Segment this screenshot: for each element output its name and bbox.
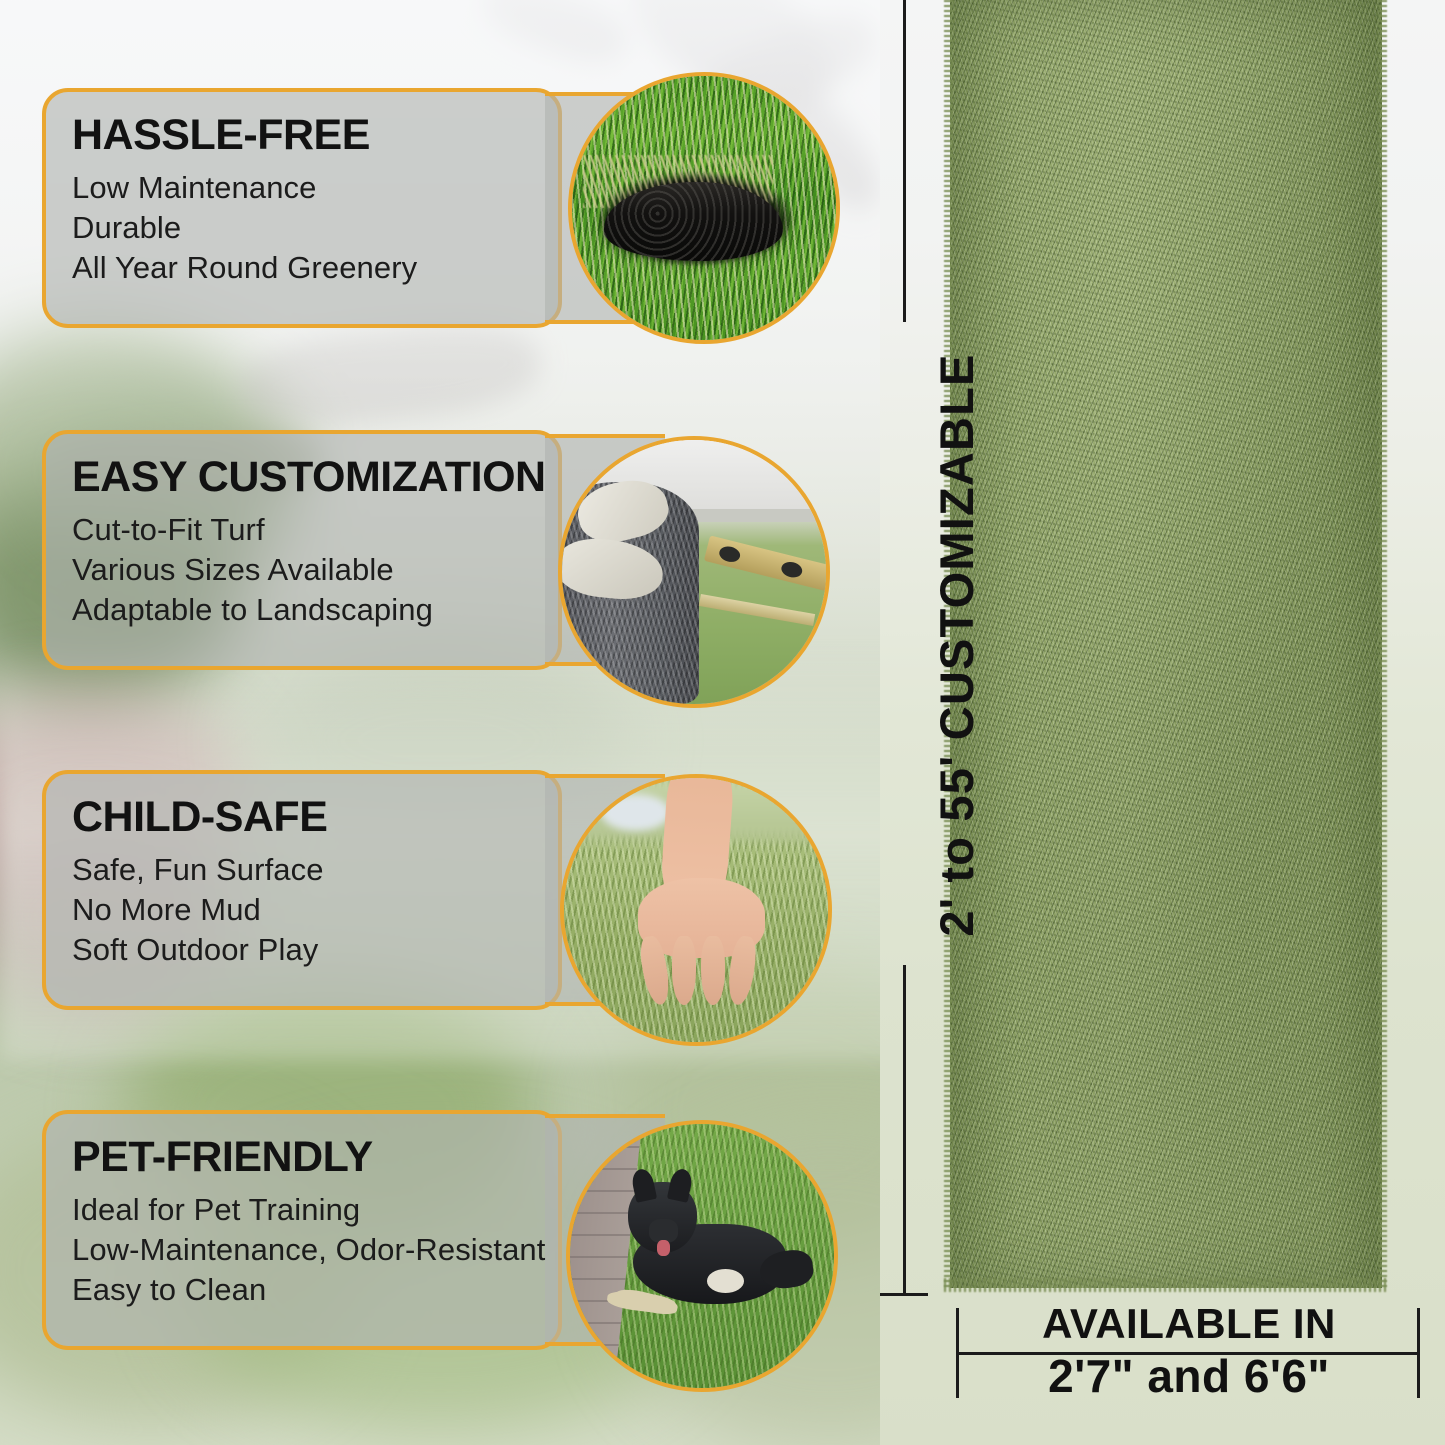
feature-bullet: Durable bbox=[72, 208, 532, 248]
length-dimension-end-cap bbox=[880, 1293, 928, 1296]
ruler-tool bbox=[699, 594, 815, 626]
dog-tongue bbox=[657, 1240, 670, 1256]
feature-title: EASY CUSTOMIZATION bbox=[72, 454, 532, 500]
length-dimension-line-upper bbox=[903, 0, 906, 322]
dog-chest-marking bbox=[707, 1269, 744, 1293]
spirit-level-tool bbox=[703, 535, 830, 593]
infographic-canvas: 2' to 55' CUSTOMIZABLE AVAILABLE IN 2'7"… bbox=[0, 0, 1445, 1445]
feature-bullet: Low Maintenance bbox=[72, 168, 532, 208]
feature-photo-circle bbox=[558, 436, 830, 708]
turf-bottom-edge bbox=[944, 1278, 1388, 1292]
paver-path bbox=[566, 1124, 642, 1388]
level-vial bbox=[718, 544, 742, 563]
feature-title: CHILD-SAFE bbox=[72, 794, 532, 840]
feature-callout-box: EASY CUSTOMIZATION Cut-to-Fit Turf Vario… bbox=[42, 430, 562, 670]
feature-bullet: Various Sizes Available bbox=[72, 550, 532, 590]
feature-bullet: Adaptable to Landscaping bbox=[72, 590, 532, 630]
feature-photo-circle bbox=[568, 72, 840, 344]
turf-cross-section-roll-photo bbox=[572, 76, 836, 340]
level-vial bbox=[779, 559, 803, 578]
feature-bullet: No More Mud bbox=[72, 890, 532, 930]
feature-bullet: Low-Maintenance, Odor-Resistant bbox=[72, 1230, 532, 1270]
connector-line-top bbox=[545, 1114, 665, 1118]
feature-bullet: Easy to Clean bbox=[72, 1270, 532, 1310]
child-hand-on-turf-photo bbox=[564, 778, 828, 1042]
blurred-shoe bbox=[601, 794, 670, 831]
feature-bullet: Ideal for Pet Training bbox=[72, 1190, 532, 1230]
feature-bullet: Soft Outdoor Play bbox=[72, 930, 532, 970]
feature-title: HASSLE-FREE bbox=[72, 112, 532, 158]
feature-photo-circle bbox=[566, 1120, 838, 1392]
finger bbox=[701, 936, 725, 1005]
available-widths-value: 2'7" and 6'6" bbox=[958, 1350, 1420, 1402]
feature-title: PET-FRIENDLY bbox=[72, 1134, 532, 1180]
feature-callout-box: PET-FRIENDLY Ideal for Pet Training Low-… bbox=[42, 1110, 562, 1350]
feature-bullet: Safe, Fun Surface bbox=[72, 850, 532, 890]
length-dimension-line-lower bbox=[903, 965, 906, 1295]
width-dimension-label: AVAILABLE IN 2'7" and 6'6" bbox=[958, 1300, 1420, 1402]
dog-lying-on-turf-photo bbox=[570, 1124, 834, 1388]
feature-bullet: All Year Round Greenery bbox=[72, 248, 532, 288]
gloved-hands-rolling-turf-photo bbox=[562, 440, 826, 704]
feature-bullet: Cut-to-Fit Turf bbox=[72, 510, 532, 550]
dog-ear bbox=[630, 1167, 657, 1202]
finger bbox=[672, 936, 696, 1005]
turf-right-edge bbox=[1378, 0, 1387, 1288]
turf-left-edge bbox=[944, 0, 953, 1288]
available-in-label: AVAILABLE IN bbox=[958, 1300, 1420, 1348]
feature-photo-circle bbox=[560, 774, 832, 1046]
connector-line-top bbox=[545, 434, 665, 438]
feature-callout-box: HASSLE-FREE Low Maintenance Durable All … bbox=[42, 88, 562, 328]
feature-callout-box: CHILD-SAFE Safe, Fun Surface No More Mud… bbox=[42, 770, 562, 1010]
turf-roll-strip bbox=[950, 0, 1382, 1288]
